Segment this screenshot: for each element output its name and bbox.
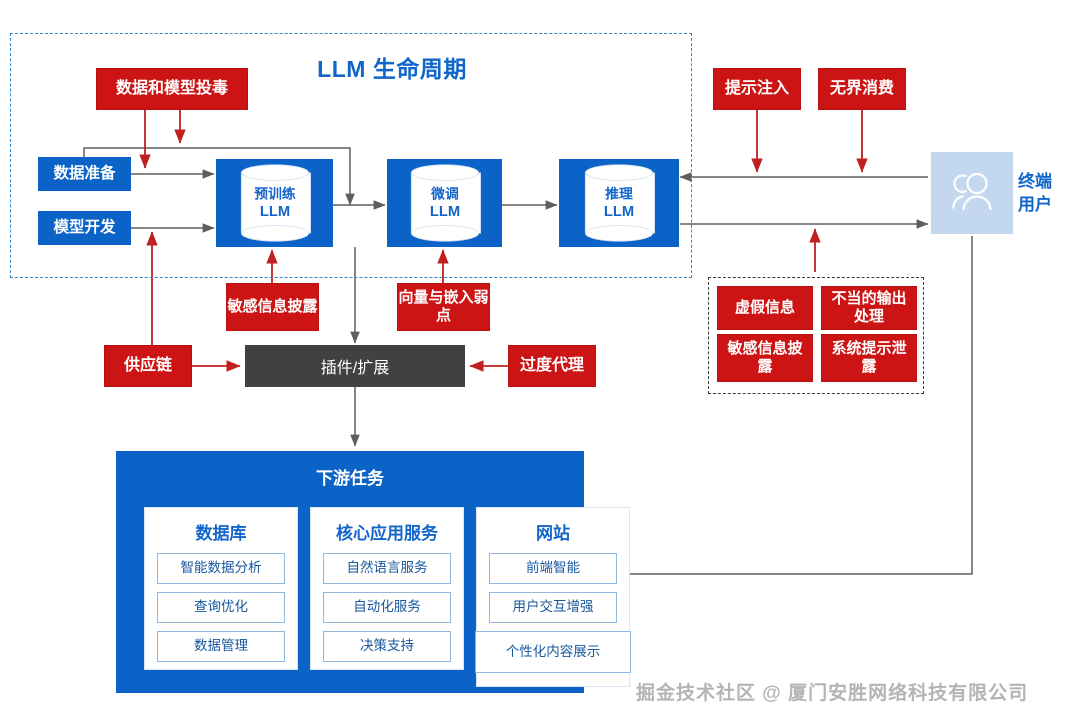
end-user-label-line1: 终端 xyxy=(1018,171,1052,194)
watermark-text: 掘金技术社区 @ 厦门安胜网络科技有限公司 xyxy=(636,676,1066,706)
downstream-item[interactable]: 自然语言服务 xyxy=(323,553,451,584)
threat-label: 向量与嵌入弱点 xyxy=(398,289,489,324)
threat-unbounded-consumption[interactable]: 无界消费 xyxy=(818,68,906,110)
stage-label-cn: 推理 xyxy=(605,187,633,204)
downstream-item[interactable]: 智能数据分析 xyxy=(157,553,285,584)
box-label: 模型开发 xyxy=(53,219,115,238)
lifecycle-input-model-development[interactable]: 模型开发 xyxy=(38,211,131,245)
threat-label: 提示注入 xyxy=(725,80,789,99)
downstream-tasks-title: 下游任务 xyxy=(116,463,584,489)
downstream-column-website: 网站 前端智能 用户交互增强 个性化内容展示 xyxy=(476,507,630,687)
downstream-column-core-application-services: 核心应用服务 自然语言服务 自动化服务 决策支持 xyxy=(310,507,464,670)
database-cylinder-icon: 预训练 LLM xyxy=(240,164,308,241)
stage-label-cn: 微调 xyxy=(431,187,459,204)
item-label: 智能数据分析 xyxy=(181,560,262,576)
risk-label: 敏感信息披露 xyxy=(724,340,806,375)
end-user-label: 终端 用户 xyxy=(1018,170,1076,218)
column-title: 网站 xyxy=(536,519,570,544)
item-label: 自然语言服务 xyxy=(347,560,428,576)
item-label: 决策支持 xyxy=(360,638,414,654)
column-title: 核心应用服务 xyxy=(336,519,438,544)
lifecycle-input-data-preparation[interactable]: 数据准备 xyxy=(38,157,131,191)
end-user-tile[interactable] xyxy=(931,152,1013,234)
stage-label-en: LLM xyxy=(604,203,634,221)
users-icon xyxy=(944,170,1000,216)
output-risk-group: 虚假信息 不当的输出处理 敏感信息披露 系统提示泄露 xyxy=(708,277,924,394)
item-label: 用户交互增强 xyxy=(513,599,594,615)
lifecycle-stage-pretrain[interactable]: 预训练 LLM xyxy=(216,159,333,247)
plugins-extensions-box[interactable]: 插件/扩展 xyxy=(245,345,465,387)
lifecycle-stage-finetune[interactable]: 微调 LLM xyxy=(387,159,502,247)
risk-misinformation[interactable]: 虚假信息 xyxy=(717,286,813,330)
risk-improper-output-handling[interactable]: 不当的输出处理 xyxy=(821,286,917,330)
box-label: 数据准备 xyxy=(53,165,115,184)
downstream-item[interactable]: 用户交互增强 xyxy=(489,592,617,623)
item-label: 前端智能 xyxy=(526,560,580,576)
item-label: 个性化内容展示 xyxy=(506,644,601,660)
database-cylinder-icon: 推理 LLM xyxy=(585,164,653,241)
item-label: 查询优化 xyxy=(194,599,248,615)
downstream-item[interactable]: 自动化服务 xyxy=(323,592,451,623)
downstream-item[interactable]: 决策支持 xyxy=(323,631,451,662)
threat-supply-chain[interactable]: 供应链 xyxy=(104,345,192,387)
downstream-item[interactable]: 个性化内容展示 xyxy=(475,631,631,673)
threat-label: 供应链 xyxy=(124,357,172,376)
risk-label: 虚假信息 xyxy=(735,299,795,317)
downstream-item[interactable]: 前端智能 xyxy=(489,553,617,584)
end-user-label-line2: 用户 xyxy=(1018,194,1052,217)
downstream-tasks-panel: 下游任务 数据库 智能数据分析 查询优化 数据管理 核心应用服务 自然语言服务 … xyxy=(116,451,584,693)
risk-label: 不当的输出处理 xyxy=(830,290,908,325)
downstream-column-database: 数据库 智能数据分析 查询优化 数据管理 xyxy=(144,507,298,670)
threat-label: 无界消费 xyxy=(830,80,894,99)
threat-label: 过度代理 xyxy=(520,357,584,376)
stage-label-en: LLM xyxy=(429,203,459,221)
risk-label: 系统提示泄露 xyxy=(828,340,910,375)
database-cylinder-icon: 微调 LLM xyxy=(410,164,478,241)
threat-sensitive-information-disclosure-pretrain[interactable]: 敏感信息披露 xyxy=(226,283,319,331)
risk-system-prompt-leakage[interactable]: 系统提示泄露 xyxy=(821,334,917,382)
stage-label-en: LLM xyxy=(259,203,289,221)
llm-lifecycle-title: LLM 生命周期 xyxy=(272,50,512,84)
diagram-canvas: LLM 生命周期 数据和模型投毒 数据准备 模型开发 预训练 LLM 微调 xyxy=(0,0,1080,724)
item-label: 数据管理 xyxy=(194,638,248,654)
stage-label-cn: 预训练 xyxy=(254,187,295,204)
threat-label: 敏感信息披露 xyxy=(227,298,317,316)
threat-label: 数据和模型投毒 xyxy=(116,80,228,99)
threat-excessive-agency[interactable]: 过度代理 xyxy=(508,345,596,387)
lifecycle-stage-inference[interactable]: 推理 LLM xyxy=(559,159,679,247)
threat-vector-and-embedding-weaknesses[interactable]: 向量与嵌入弱点 xyxy=(397,283,490,331)
threat-prompt-injection[interactable]: 提示注入 xyxy=(713,68,801,110)
downstream-item[interactable]: 数据管理 xyxy=(157,631,285,662)
threat-data-model-poisoning[interactable]: 数据和模型投毒 xyxy=(96,68,248,110)
column-title: 数据库 xyxy=(196,519,247,544)
risk-sensitive-information-disclosure[interactable]: 敏感信息披露 xyxy=(717,334,813,382)
downstream-item[interactable]: 查询优化 xyxy=(157,592,285,623)
item-label: 自动化服务 xyxy=(353,599,421,615)
plugins-label: 插件/扩展 xyxy=(321,354,389,378)
